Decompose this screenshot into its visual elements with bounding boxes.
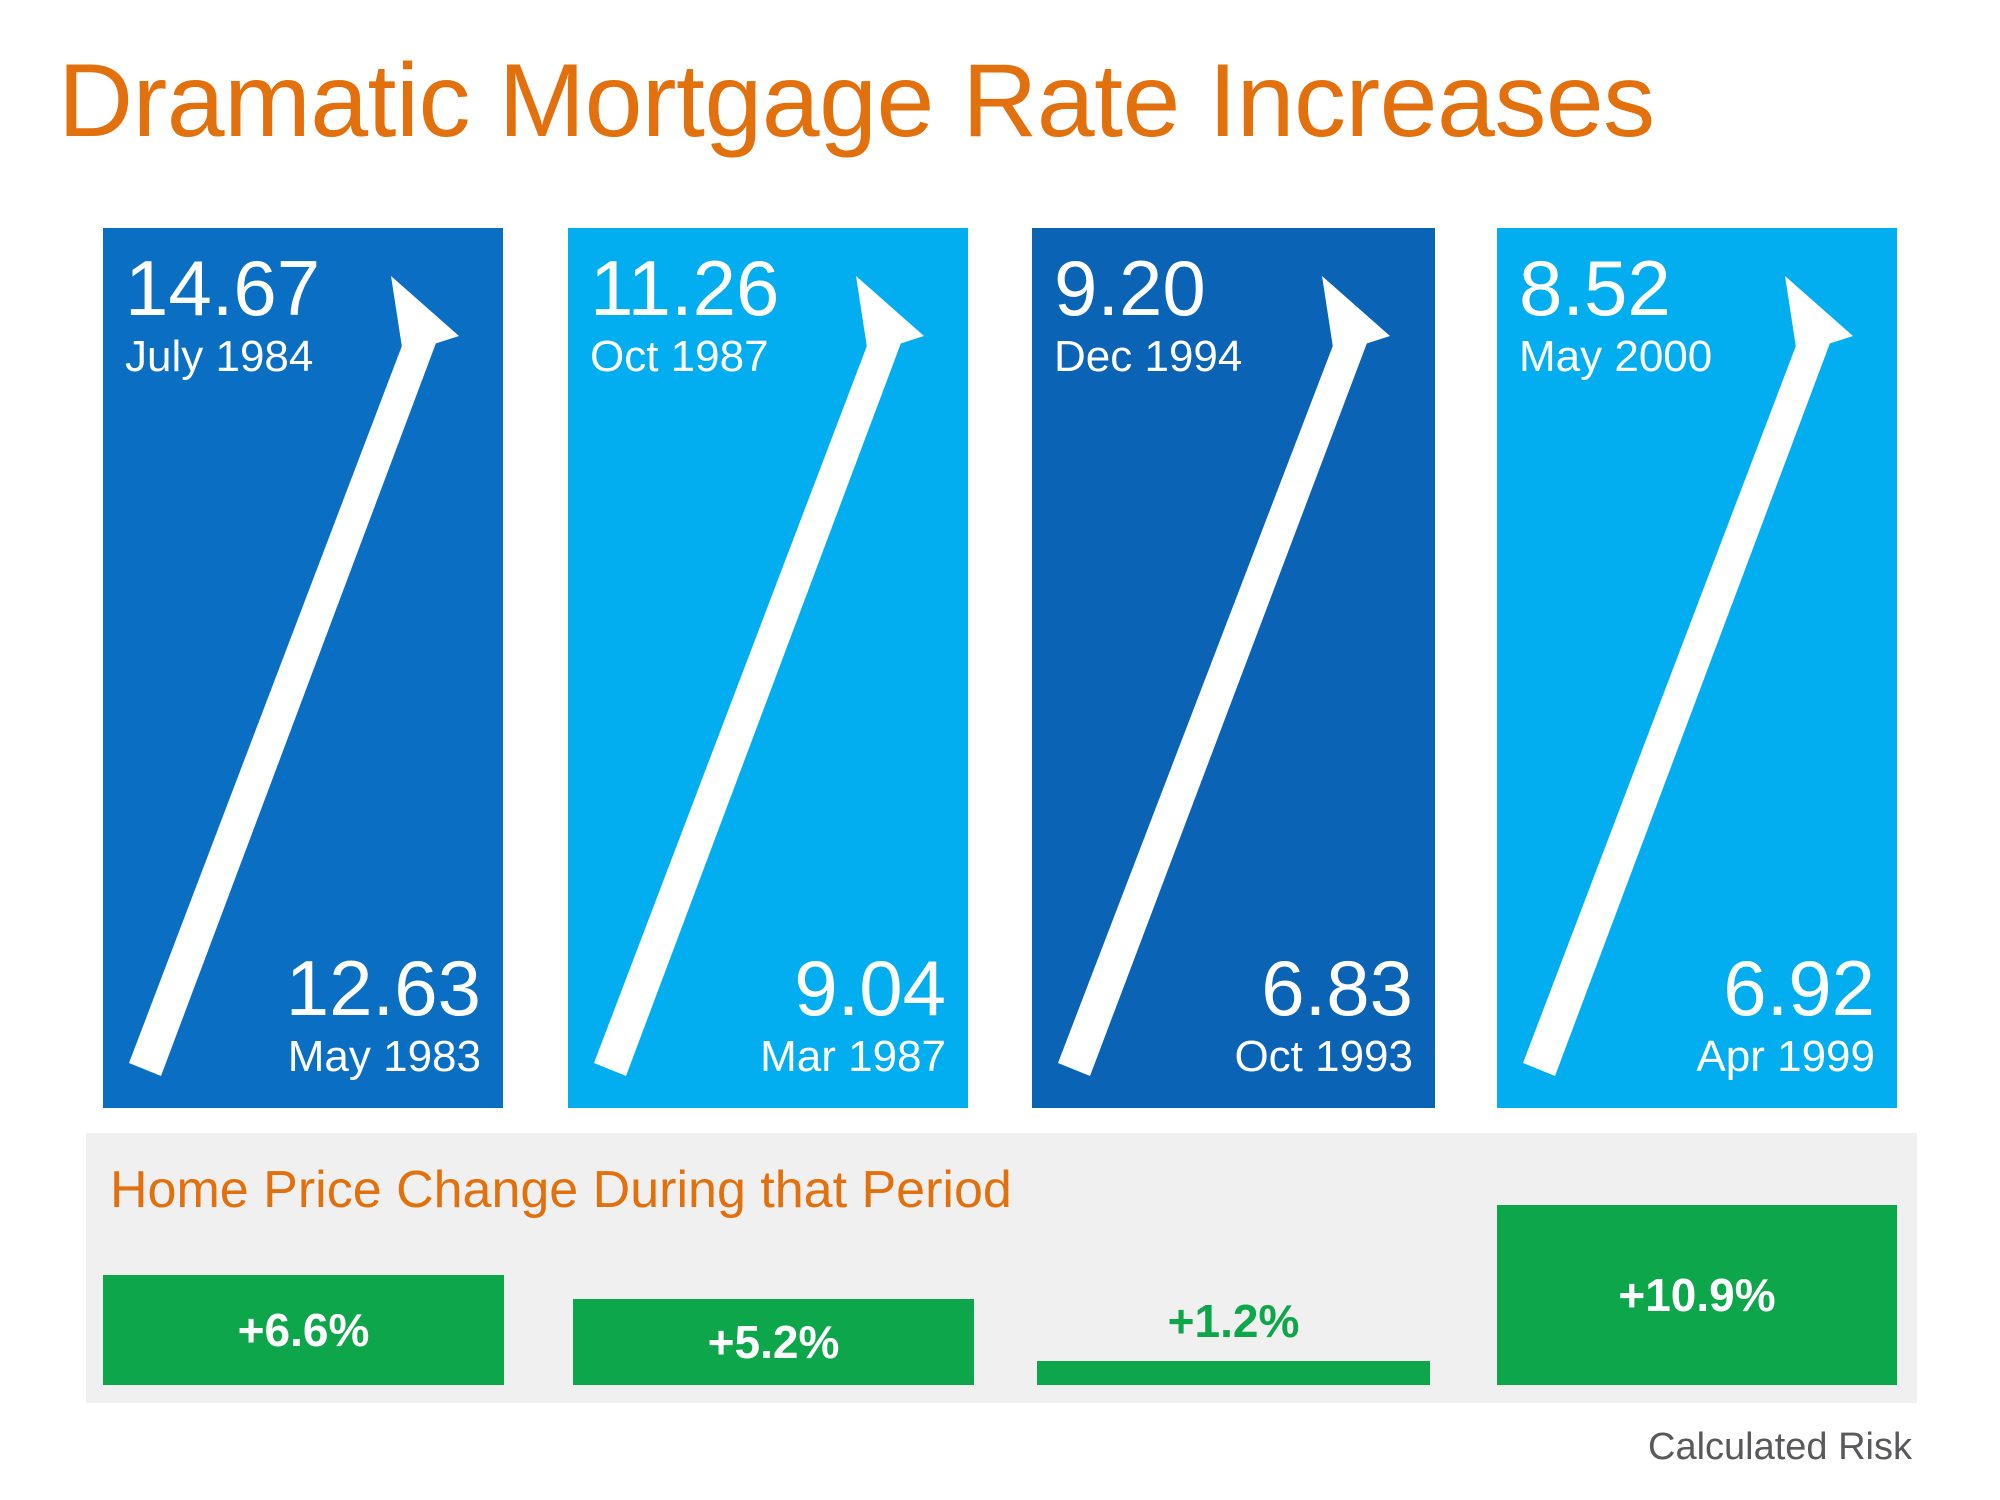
home-price-bar: +1.2% bbox=[1037, 1361, 1430, 1385]
panel-high-date: July 1984 bbox=[125, 330, 489, 384]
home-price-bar-chart: +6.6% +5.2% +1.2% +10.9% bbox=[86, 1133, 1917, 1403]
panel-low-date: Apr 1999 bbox=[1511, 1030, 1875, 1084]
home-price-bar: +5.2% bbox=[573, 1299, 974, 1385]
panel-high-block: 11.26 Oct 1987 bbox=[568, 246, 968, 384]
panel-high-rate: 14.67 bbox=[125, 246, 489, 330]
panel-low-block: 9.04 Mar 1987 bbox=[568, 946, 968, 1084]
bar-fill: +1.2% bbox=[1037, 1361, 1430, 1385]
bar-value-label: +1.2% bbox=[1037, 1295, 1430, 1347]
panel-low-date: May 1983 bbox=[117, 1030, 481, 1084]
rate-panel: 11.26 Oct 1987 9.04 Mar 1987 bbox=[568, 228, 968, 1108]
panel-high-block: 9.20 Dec 1994 bbox=[1032, 246, 1435, 384]
panel-low-date: Oct 1993 bbox=[1046, 1030, 1413, 1084]
panel-high-date: May 2000 bbox=[1519, 330, 1883, 384]
bar-fill: +5.2% bbox=[573, 1299, 974, 1385]
home-price-bar: +10.9% bbox=[1497, 1205, 1897, 1385]
panel-high-block: 8.52 May 2000 bbox=[1497, 246, 1897, 384]
rate-panels-row: 14.67 July 1984 12.63 May 1983 11.26 Oct… bbox=[103, 228, 1897, 1108]
panel-low-block: 6.92 Apr 1999 bbox=[1497, 946, 1897, 1084]
panel-high-rate: 11.26 bbox=[590, 246, 954, 330]
rate-panel: 14.67 July 1984 12.63 May 1983 bbox=[103, 228, 503, 1108]
panel-high-rate: 9.20 bbox=[1054, 246, 1421, 330]
panel-high-rate: 8.52 bbox=[1519, 246, 1883, 330]
panel-high-block: 14.67 July 1984 bbox=[103, 246, 503, 384]
panel-low-block: 12.63 May 1983 bbox=[103, 946, 503, 1084]
bar-value-label: +6.6% bbox=[103, 1304, 504, 1356]
panel-low-rate: 9.04 bbox=[582, 946, 946, 1030]
panel-low-block: 6.83 Oct 1993 bbox=[1032, 946, 1435, 1084]
page-title: Dramatic Mortgage Rate Increases bbox=[58, 42, 1958, 162]
source-attribution: Calculated Risk bbox=[1648, 1424, 1912, 1470]
bar-value-label: +10.9% bbox=[1497, 1269, 1897, 1321]
home-price-bar: +6.6% bbox=[103, 1275, 504, 1385]
rate-panel: 8.52 May 2000 6.92 Apr 1999 bbox=[1497, 228, 1897, 1108]
panel-high-date: Oct 1987 bbox=[590, 330, 954, 384]
bar-fill: +6.6% bbox=[103, 1275, 504, 1385]
panel-low-rate: 6.83 bbox=[1046, 946, 1413, 1030]
panel-low-rate: 6.92 bbox=[1511, 946, 1875, 1030]
panel-low-rate: 12.63 bbox=[117, 946, 481, 1030]
bar-fill: +10.9% bbox=[1497, 1205, 1897, 1385]
bar-value-label: +5.2% bbox=[573, 1316, 974, 1368]
panel-high-date: Dec 1994 bbox=[1054, 330, 1421, 384]
home-price-change-band: Home Price Change During that Period +6.… bbox=[86, 1133, 1917, 1403]
panel-low-date: Mar 1987 bbox=[582, 1030, 946, 1084]
rate-panel: 9.20 Dec 1994 6.83 Oct 1993 bbox=[1032, 228, 1435, 1108]
